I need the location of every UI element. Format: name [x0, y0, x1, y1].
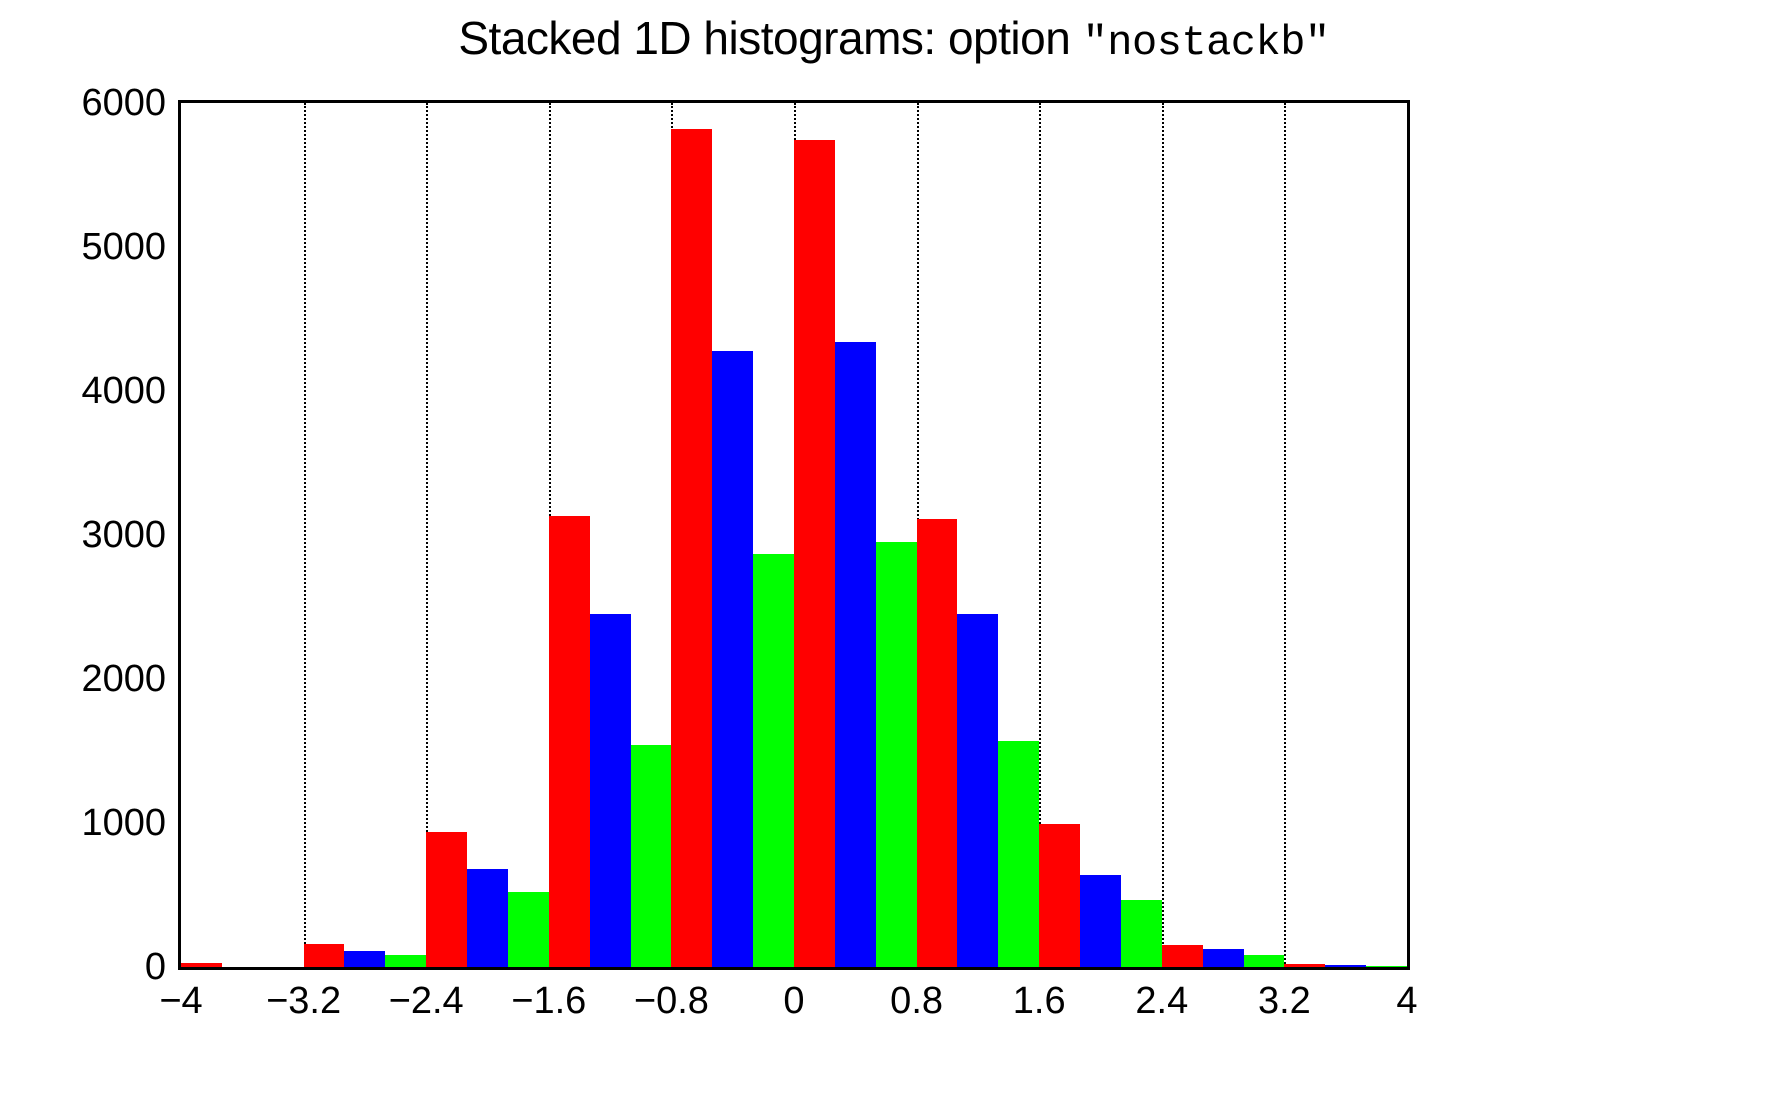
x-axis-label-9: 3.2 [1258, 980, 1311, 1022]
x-axis-label-0: −4 [159, 980, 202, 1022]
x-axis-label-5: 0 [783, 980, 804, 1022]
gridline-x-7 [1162, 103, 1164, 967]
bar-red-1 [304, 944, 345, 967]
x-axis-label-6: 0.8 [890, 980, 943, 1022]
bar-green-2 [508, 892, 549, 967]
bar-green-1 [385, 955, 426, 967]
chart-title: Stacked 1D histograms: option "nostackb" [0, 8, 1788, 73]
y-axis-label-1000: 1000 [81, 804, 166, 842]
bar-green-7 [1121, 900, 1162, 967]
x-axis-label-7: 1.6 [1013, 980, 1066, 1022]
bar-blue-7 [1080, 875, 1121, 967]
bar-green-3 [631, 745, 672, 967]
chart-title-plain: Stacked 1D histograms: option [458, 12, 1082, 64]
bar-red-4 [671, 129, 712, 967]
bar-blue-8 [1203, 949, 1244, 967]
bar-blue-9 [1325, 965, 1366, 967]
bar-green-8 [1244, 955, 1285, 967]
chart-title-option: "nostackb" [1083, 19, 1330, 67]
bar-red-8 [1162, 945, 1203, 967]
bar-blue-4 [712, 351, 753, 967]
bar-green-9 [1366, 966, 1407, 967]
x-axis-label-10: 4 [1396, 980, 1417, 1022]
x-axis-label-8: 2.4 [1135, 980, 1188, 1022]
plot-area [181, 103, 1407, 967]
bar-green-6 [998, 741, 1039, 967]
root-canvas: Stacked 1D histograms: option "nostackb"… [0, 0, 1788, 1116]
y-axis-label-3000: 3000 [81, 516, 166, 554]
bar-blue-1 [344, 951, 385, 967]
bar-red-5 [794, 140, 835, 967]
bar-red-3 [549, 516, 590, 967]
x-axis-label-1: −3.2 [266, 980, 341, 1022]
bar-red-7 [1039, 824, 1080, 967]
bar-red-2 [426, 832, 467, 967]
bar-blue-3 [590, 614, 631, 967]
bar-blue-5 [835, 342, 876, 967]
y-axis-label-2000: 2000 [81, 660, 166, 698]
bar-blue-2 [467, 869, 508, 967]
y-axis-label-4000: 4000 [81, 372, 166, 410]
plot-frame [178, 100, 1410, 970]
bar-red-6 [917, 519, 958, 967]
gridline-x-0 [304, 103, 306, 967]
x-axis-label-3: −1.6 [511, 980, 586, 1022]
bar-red-0 [181, 963, 222, 967]
x-axis-label-4: −0.8 [634, 980, 709, 1022]
x-axis-label-2: −2.4 [389, 980, 464, 1022]
bar-red-9 [1284, 964, 1325, 967]
bar-green-4 [753, 554, 794, 967]
gridline-x-8 [1284, 103, 1286, 967]
y-axis-label-5000: 5000 [81, 228, 166, 266]
bar-green-5 [876, 542, 917, 967]
bar-blue-6 [957, 614, 998, 967]
y-axis-label-6000: 6000 [81, 84, 166, 122]
